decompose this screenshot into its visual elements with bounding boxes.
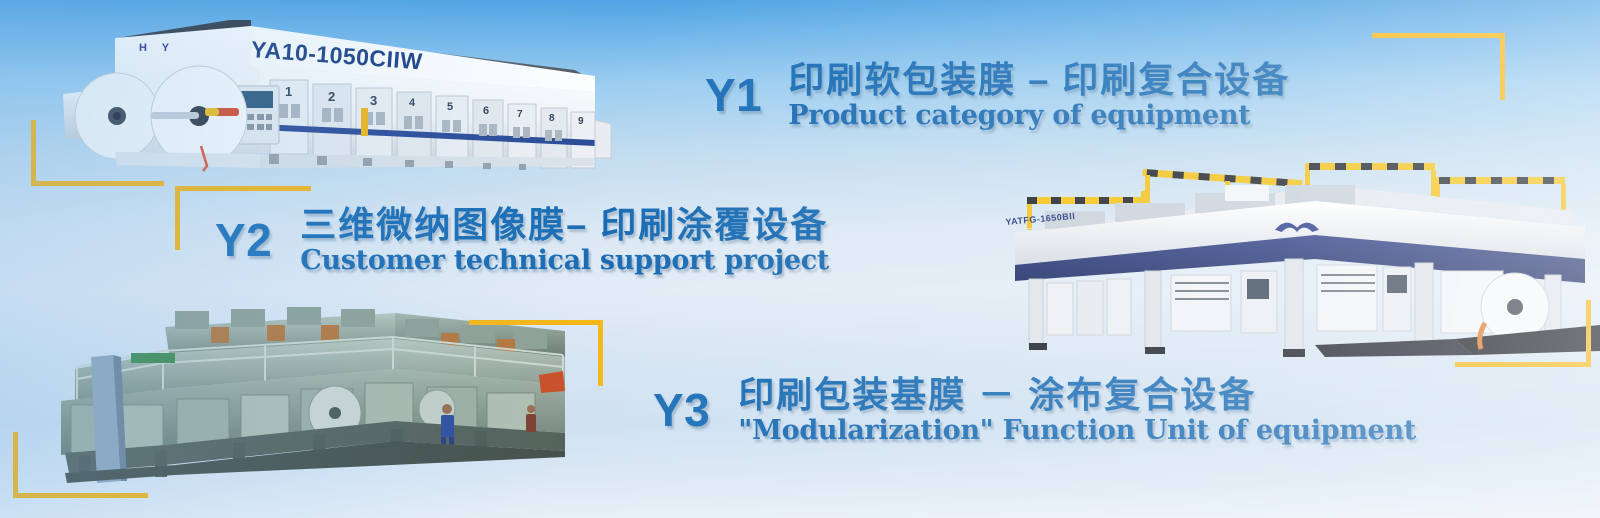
machine-base-film-coating-line <box>35 305 575 490</box>
text-group-y2: Y2 三维微纳图像膜– 印刷涂覆设备 Customer technical su… <box>215 205 829 275</box>
group-english-y3: "Modularization" Function Unit of equipm… <box>738 417 1416 445</box>
bracket-bottom-left-horizontal <box>13 493 148 498</box>
print-unit-number: 7 <box>517 109 523 120</box>
machine-rotogravure-press: H Y YA10-1050CIIW 1 2 3 4 5 6 7 8 9 <box>55 8 615 173</box>
group-english-y2: Customer technical support project <box>300 247 829 275</box>
bracket-top-right-horizontal <box>1372 33 1505 38</box>
group-tag-y1: Y1 <box>705 72 762 118</box>
print-unit-number: 3 <box>370 93 377 108</box>
machine-brand-mark: H Y <box>139 42 175 54</box>
text-group-y3: Y3 印刷包装基膜 － 涂布复合设备 "Modularization" Func… <box>653 375 1416 445</box>
print-unit-number: 2 <box>328 89 335 104</box>
group-chinese-y3: 印刷包装基膜 － 涂布复合设备 <box>738 375 1416 415</box>
print-unit-number: 6 <box>483 105 489 117</box>
bracket-mid-right-vertical <box>1586 300 1591 367</box>
bracket-top-left-horizontal <box>31 181 164 186</box>
print-unit-number: 4 <box>409 97 415 109</box>
bracket-mid-left-vertical <box>598 320 603 386</box>
promo-banner: H Y YA10-1050CIIW 1 2 3 4 5 6 7 8 9 <box>0 0 1600 518</box>
bracket-bottom-left-vertical <box>13 432 18 498</box>
print-unit-number: 8 <box>549 113 555 124</box>
group-chinese-y1: 印刷软包装膜 – 印刷复合设备 <box>788 60 1290 100</box>
group-english-y1: Product category of equipment <box>788 102 1290 130</box>
group-tag-y3: Y3 <box>653 387 710 433</box>
bracket-top-left-vertical <box>31 120 36 186</box>
text-group-y1: Y1 印刷软包装膜 – 印刷复合设备 Product category of e… <box>705 60 1290 130</box>
print-unit-number: 1 <box>285 84 292 99</box>
bracket-mid-left-horizontal <box>469 320 603 325</box>
bracket-y2-vertical <box>175 186 180 250</box>
machine-coating-laminating-line: YATFG-1650BII <box>985 155 1600 360</box>
print-unit-number: 9 <box>578 116 584 127</box>
bracket-y2-horizontal <box>175 186 311 191</box>
bracket-top-right-vertical <box>1500 33 1505 100</box>
print-unit-number: 5 <box>447 101 453 113</box>
group-tag-y2: Y2 <box>215 217 272 263</box>
bracket-mid-right-horizontal <box>1455 362 1591 367</box>
group-chinese-y2: 三维微纳图像膜– 印刷涂覆设备 <box>300 205 829 245</box>
